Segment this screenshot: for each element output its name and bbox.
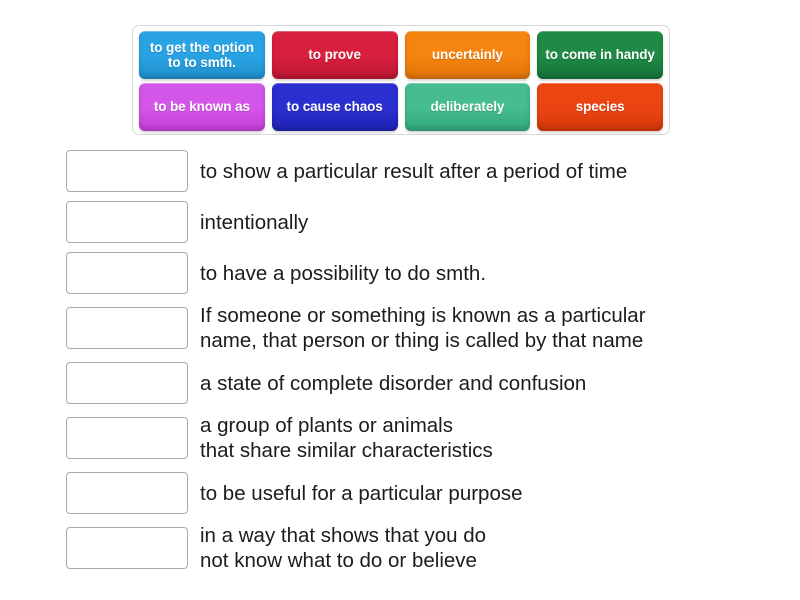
word-tile[interactable]: to cause chaos [272, 83, 398, 131]
word-tile[interactable]: to prove [272, 31, 398, 79]
word-tile-label: to get the option to to smth. [143, 40, 261, 71]
answer-row: in a way that shows that you do not know… [0, 523, 800, 573]
tile-row-1: to get the option to to smth. to prove u… [139, 31, 663, 79]
answer-row: to show a particular result after a peri… [0, 150, 800, 192]
answer-row: a group of plants or animals that share … [0, 413, 800, 463]
answer-row: intentionally [0, 201, 800, 243]
definition-text: a group of plants or animals that share … [200, 413, 493, 463]
word-tile-bank: to get the option to to smth. to prove u… [132, 25, 670, 135]
answer-drop-box[interactable] [66, 472, 188, 514]
definition-text: to be useful for a particular purpose [200, 481, 523, 506]
answer-list: to show a particular result after a peri… [0, 150, 800, 582]
word-tile[interactable]: species [537, 83, 663, 131]
word-tile-label: to come in handy [545, 47, 654, 62]
answer-drop-box[interactable] [66, 252, 188, 294]
tile-row-2: to be known as to cause chaos deliberate… [139, 83, 663, 131]
answer-drop-box[interactable] [66, 362, 188, 404]
answer-drop-box[interactable] [66, 150, 188, 192]
word-tile-label: species [576, 99, 625, 114]
definition-text: in a way that shows that you do not know… [200, 523, 486, 573]
answer-row: to have a possibility to do smth. [0, 252, 800, 294]
definition-text: to show a particular result after a peri… [200, 159, 627, 184]
word-tile-label: deliberately [430, 99, 504, 114]
answer-row: If someone or something is known as a pa… [0, 303, 800, 353]
answer-drop-box[interactable] [66, 527, 188, 569]
definition-text: If someone or something is known as a pa… [200, 303, 646, 353]
answer-drop-box[interactable] [66, 307, 188, 349]
definition-text: a state of complete disorder and confusi… [200, 371, 586, 396]
definition-text: intentionally [200, 210, 308, 235]
word-tile-label: to be known as [154, 99, 250, 114]
word-tile-label: uncertainly [432, 47, 503, 62]
answer-row: to be useful for a particular purpose [0, 472, 800, 514]
word-tile[interactable]: deliberately [405, 83, 531, 131]
word-tile[interactable]: to get the option to to smth. [139, 31, 265, 79]
word-tile[interactable]: to be known as [139, 83, 265, 131]
answer-row: a state of complete disorder and confusi… [0, 362, 800, 404]
answer-drop-box[interactable] [66, 417, 188, 459]
word-tile[interactable]: uncertainly [405, 31, 531, 79]
answer-drop-box[interactable] [66, 201, 188, 243]
word-tile[interactable]: to come in handy [537, 31, 663, 79]
definition-text: to have a possibility to do smth. [200, 261, 486, 286]
word-tile-label: to cause chaos [287, 99, 383, 114]
word-tile-label: to prove [308, 47, 360, 62]
